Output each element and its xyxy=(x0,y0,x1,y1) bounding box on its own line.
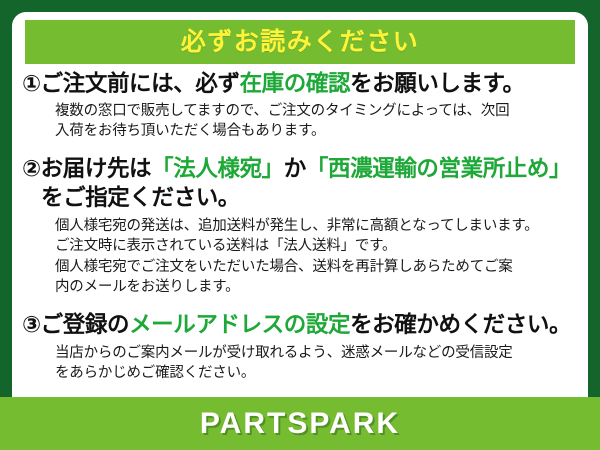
body-line: 当店からのご案内メールが受け取れるよう、迷惑メールなどの受信設定 xyxy=(55,343,580,364)
heading-second-line: をご指定ください。 xyxy=(22,184,580,213)
notice-item-2-body: 個人様宅宛の発送は、追加送料が発生し、非常に高額となってしまいます。ご注文時に表… xyxy=(22,216,580,298)
body-line: 個人様宅宛の発送は、追加送料が発生し、非常に高額となってしまいます。 xyxy=(55,216,580,237)
page-title: 必ずお読みください xyxy=(181,30,420,55)
body-line: 複数の窓口で販売してますので、ご注文のタイミングによっては、次回 xyxy=(55,101,580,122)
heading-text: お届け先は xyxy=(41,156,152,181)
notice-item-1-body: 複数の窓口で販売してますので、ご注文のタイミングによっては、次回入荷をお待ち頂い… xyxy=(22,101,580,142)
notice-card: 必ずお読みください ①ご注文前には、必ず在庫の確認をお願いします。 複数の窓口で… xyxy=(12,12,588,424)
notice-item-2-heading: ②お届け先は「法人様宛」か「西濃運輸の営業所止め」をご指定ください。 xyxy=(22,155,580,213)
notice-banner: 必ずお読みください ①ご注文前には、必ず在庫の確認をお願いします。 複数の窓口で… xyxy=(0,0,600,450)
heading-text: をお確かめください。 xyxy=(350,312,571,337)
highlighted-phrase: 在庫の確認 xyxy=(240,71,351,96)
body-line: 内のメールをお送りします。 xyxy=(55,277,580,298)
item-marker: ② xyxy=(22,156,41,181)
notice-item-3-heading: ③ご登録のメールアドレスの設定をお確かめください。 xyxy=(22,311,580,340)
notice-title-bar: 必ずお読みください xyxy=(25,20,575,64)
body-line: ご注文時に表示されている送料は「法人送料」です。 xyxy=(55,236,580,257)
notice-item-1: ①ご注文前には、必ず在庫の確認をお願いします。 複数の窓口で販売してますので、ご… xyxy=(22,70,580,142)
notice-item-3: ③ご登録のメールアドレスの設定をお確かめください。 当店からのご案内メールが受け… xyxy=(22,311,580,384)
notice-content: ①ご注文前には、必ず在庫の確認をお願いします。 複数の窓口で販売してますので、ご… xyxy=(12,70,588,386)
notice-item-1-heading: ①ご注文前には、必ず在庫の確認をお願いします。 xyxy=(22,70,580,99)
highlighted-phrase: 「法人様宛」 xyxy=(151,156,284,181)
heading-text: をお願いします。 xyxy=(350,71,525,96)
heading-text: ご登録の xyxy=(41,312,129,337)
brand-logo: PARTSPARK xyxy=(200,409,400,439)
highlighted-phrase: メールアドレスの設定 xyxy=(129,312,350,337)
heading-text: か xyxy=(284,156,306,181)
highlighted-phrase: 「西濃運輸の営業所止め」 xyxy=(306,156,571,181)
notice-item-2: ②お届け先は「法人様宛」か「西濃運輸の営業所止め」をご指定ください。 個人様宅宛… xyxy=(22,155,580,298)
footer-band: PARTSPARK xyxy=(0,397,600,450)
item-marker: ③ xyxy=(22,312,41,337)
body-line: をあらかじめご確認ください。 xyxy=(55,363,580,384)
body-line: 入荷をお待ち頂いただく場合もあります。 xyxy=(55,121,580,142)
heading-text: ご注文前には、必ず xyxy=(41,71,240,96)
body-line: 個人様宅宛でご注文をいただいた場合、送料を再計算しあらためてご案 xyxy=(55,257,580,278)
notice-item-3-body: 当店からのご案内メールが受け取れるよう、迷惑メールなどの受信設定をあらかじめご確… xyxy=(22,343,580,384)
item-marker: ① xyxy=(22,71,41,96)
